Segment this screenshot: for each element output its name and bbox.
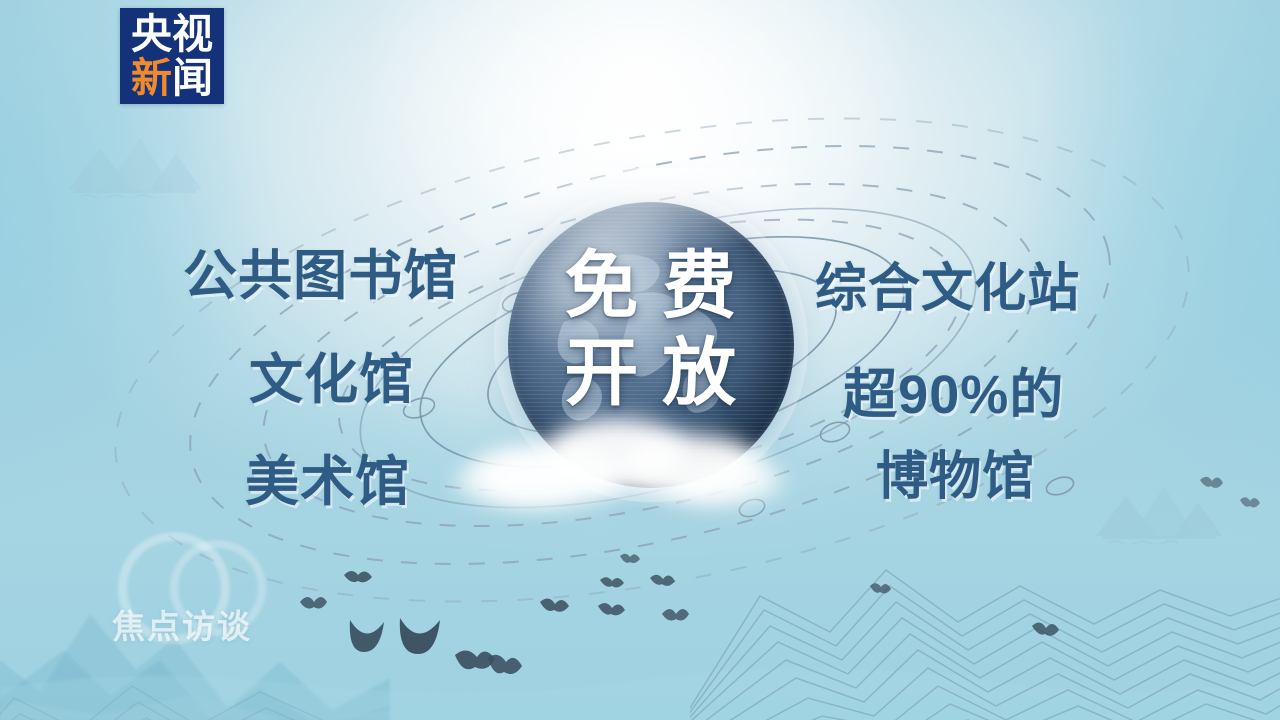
logo-char-yang: 央 xyxy=(131,14,172,55)
cctv-news-logo: 央 视 新 闻 xyxy=(120,8,224,104)
program-watermark: 焦点访谈 xyxy=(112,600,252,648)
logo-char-shi: 视 xyxy=(172,14,213,55)
logo-char-xin: 新 xyxy=(131,58,172,99)
logo-line-1: 央 视 xyxy=(131,14,213,55)
logo-char-wen: 闻 xyxy=(172,58,213,99)
logo-line-2: 新 闻 xyxy=(131,58,213,99)
broadcast-graphic-frame: 免 费 开 放 公共图书馆 文化馆 美术馆 综合文化站 超90%的 博物馆 xyxy=(0,0,1280,720)
